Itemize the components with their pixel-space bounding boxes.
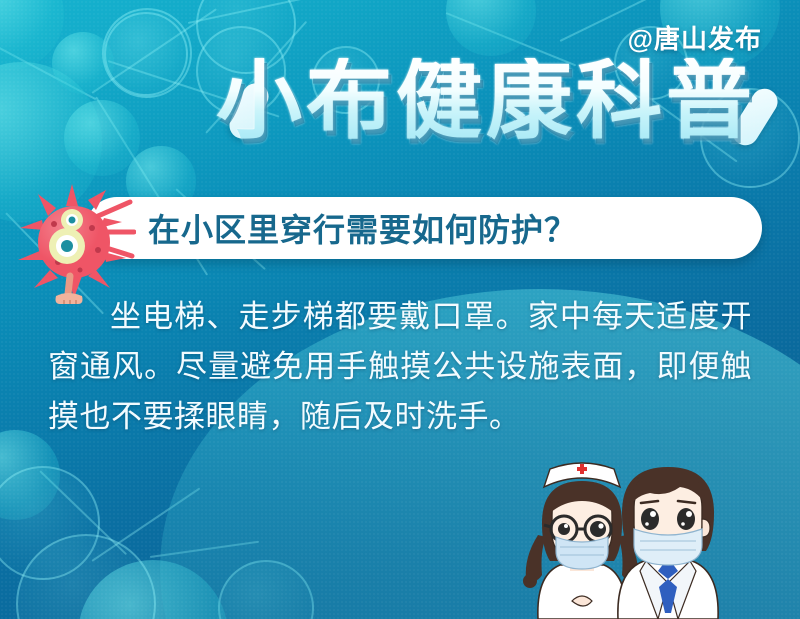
virus-mascot-icon [14, 176, 136, 308]
question-banner: 在小区里穿行需要如何防护？ [86, 197, 762, 259]
poster-canvas: @唐山发布 小布健康科普 在小区里穿行需要如何防护？ [0, 0, 800, 619]
page-title: 小布健康科普 [216, 58, 756, 144]
doctor-character-icon [618, 467, 718, 619]
question-text: 在小区里穿行需要如何防护？ [148, 205, 577, 251]
body-text: 坐电梯、走步梯都要戴口罩。家中每天适度开窗通风。尽量避免用手触摸公共设施表面，即… [48, 292, 752, 443]
publisher-handle: @唐山发布 [628, 19, 762, 56]
medical-staff-illustration [514, 453, 782, 619]
